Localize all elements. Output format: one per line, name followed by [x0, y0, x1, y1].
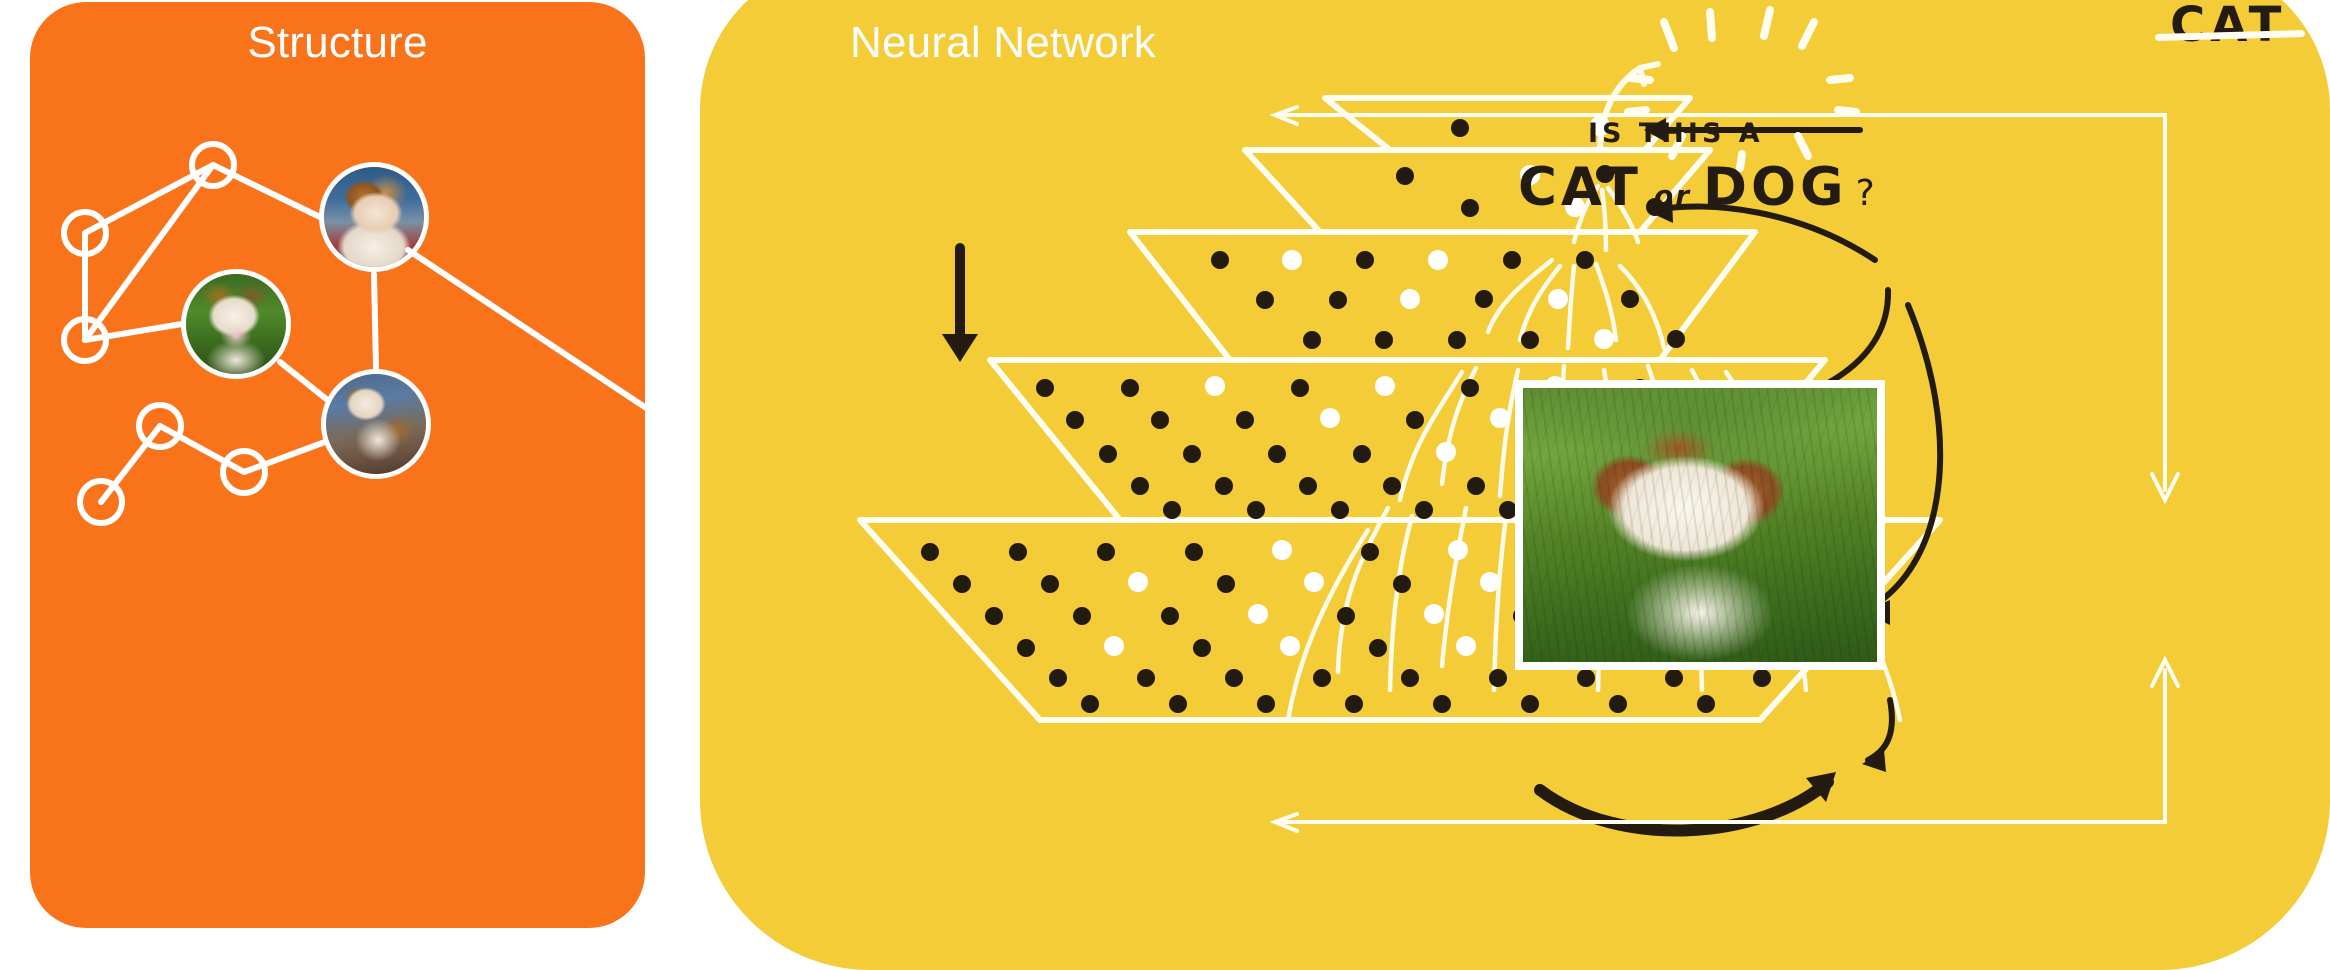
question-line-2: CATorDOG?: [1518, 158, 1878, 219]
bulldog-puppy-sitting-image: [326, 374, 426, 474]
neurons-output-layer: [1451, 116, 1610, 137]
graph-photo-node-bulldog-puppy-sitting[interactable]: [321, 369, 431, 479]
structure-panel-title: Structure: [30, 18, 645, 68]
verdict-rejected-cat: CAT: [2170, 0, 2286, 53]
graph-node: [64, 212, 106, 254]
graph-node: [139, 405, 181, 447]
question-word-dog: DOG: [1703, 157, 1848, 218]
graph-node: [64, 319, 106, 361]
question-mark: ?: [1856, 173, 1878, 214]
bulldog-on-grass-image: [186, 274, 286, 374]
question-connector: or: [1654, 179, 1691, 212]
graph-node: [223, 451, 265, 493]
graph-photo-node-bulldog-on-couch[interactable]: [319, 162, 429, 272]
question-line-1: IS THIS A: [1588, 118, 1764, 149]
input-image-card[interactable]: [1515, 380, 1885, 670]
poster-canvas: Structure: [0, 0, 2330, 936]
graph-node: [192, 144, 234, 186]
neurons-hidden-layer-2: [1211, 250, 1685, 349]
bulldog-on-couch-image: [324, 167, 424, 267]
structure-panel: Structure: [30, 2, 645, 928]
bulldog-puppy-in-grass-image: [1523, 388, 1877, 662]
neural-network-panel: Neural Network: [700, 0, 2330, 970]
question-word-cat: CAT: [1518, 157, 1642, 218]
neural-network-panel-title: Neural Network: [850, 18, 1156, 68]
graph-photo-node-bulldog-on-grass[interactable]: [181, 269, 291, 379]
layer-plane-hidden-2: [1130, 232, 1755, 360]
graph-node: [80, 481, 122, 523]
